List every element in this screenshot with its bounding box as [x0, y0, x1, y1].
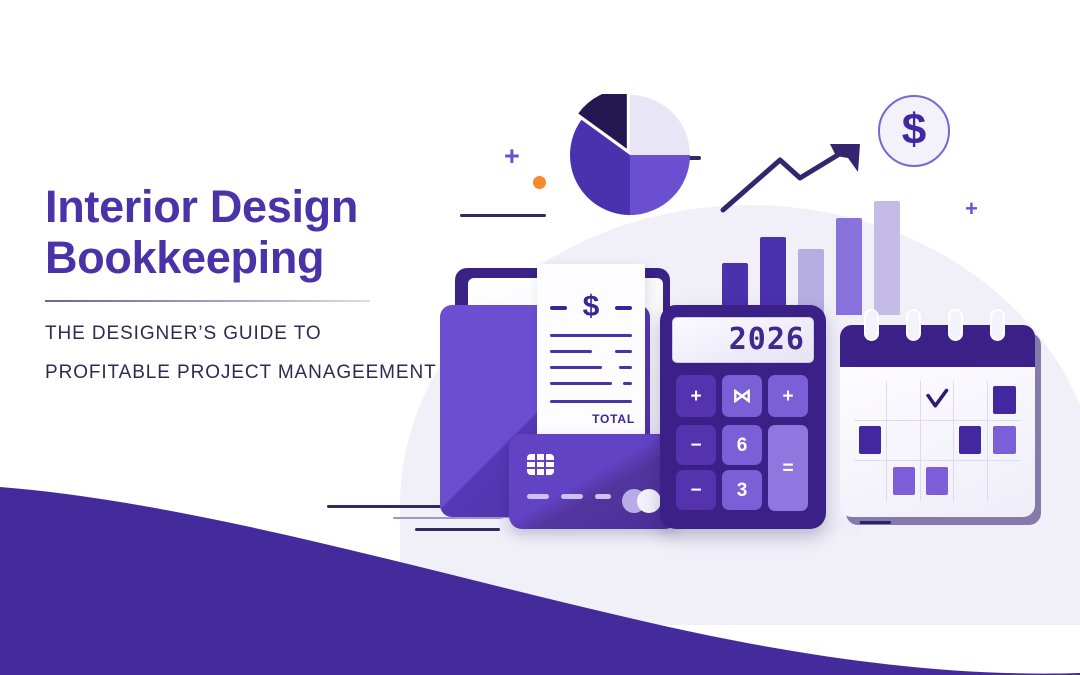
pie-slice [630, 95, 690, 155]
dash-mark-5 [415, 528, 500, 531]
receipt-dash-right [615, 306, 632, 310]
calculator: 2026 +⋈+−6−3= [660, 305, 826, 529]
calendar-cell[interactable] [854, 421, 887, 461]
calculator-display-value: 2026 [729, 325, 805, 355]
calendar-ring-1 [864, 309, 879, 341]
dash-mark-1 [460, 214, 546, 217]
key-multiply[interactable]: ⋈ [722, 375, 762, 417]
calendar [840, 325, 1035, 520]
calendar-ring-3 [948, 309, 963, 341]
receipt-zigzag-edge [537, 264, 645, 278]
receipt-body: $ TOTAL [537, 264, 645, 440]
card-number-dash-1 [527, 494, 549, 499]
receipt-line-3a [550, 366, 602, 369]
dollar-coin-icon: $ [878, 95, 950, 167]
illustration-canvas: Interior Design Bookkeeping THE DESIGNER… [0, 0, 1080, 675]
bar-chart-bar [760, 237, 786, 315]
calendar-ring-4 [990, 309, 1005, 341]
calendar-cell[interactable] [921, 421, 954, 461]
key-three[interactable]: 3 [722, 470, 762, 510]
pie-chart-svg [564, 94, 696, 216]
calendar-cell[interactable] [887, 461, 920, 501]
receipt-dash-left [550, 306, 567, 310]
calendar-day-marker [993, 386, 1016, 413]
receipt-line-1 [550, 334, 632, 337]
calculator-display: 2026 [672, 317, 814, 363]
calendar-cell[interactable] [988, 421, 1021, 461]
receipt-line-4b [623, 382, 632, 385]
calendar-day-marker [959, 426, 981, 453]
dollar-symbol: $ [902, 108, 926, 152]
key-six[interactable]: 6 [722, 425, 762, 465]
calendar-day-marker [993, 426, 1016, 453]
key-plus-2[interactable]: + [768, 375, 808, 417]
card-number-dash-3 [595, 494, 611, 499]
receipt-line-2a [550, 350, 592, 353]
calendar-cell[interactable] [854, 461, 887, 501]
receipt-line-4a [550, 382, 612, 385]
calendar-day-marker [926, 467, 948, 495]
receipt-line-3b [619, 366, 632, 369]
page-title-line-2: Bookkeeping [45, 233, 445, 284]
pie-chart [564, 94, 696, 216]
subtitle-line-1: THE DESIGNER’S GUIDE TO [45, 324, 445, 343]
card-number-dash-2 [561, 494, 583, 499]
card-logo-circle-right [637, 489, 661, 513]
receipt: $ TOTAL [537, 252, 645, 440]
calendar-cell[interactable] [954, 461, 987, 501]
calendar-cell[interactable] [988, 461, 1021, 501]
calendar-grid [854, 381, 1021, 501]
dash-mark-3 [327, 505, 453, 508]
subtitle-line-2: PROFITABLE PROJECT MANAGEEMENT [45, 363, 445, 382]
dash-mark-4 [393, 517, 510, 519]
orange-dot-icon [533, 176, 546, 189]
bar-chart-bar [836, 218, 862, 315]
hero-text: Interior Design Bookkeeping THE DESIGNER… [45, 182, 445, 382]
calendar-day-marker [893, 467, 915, 495]
key-equals[interactable]: = [768, 425, 808, 511]
receipt-total-label: TOTAL [537, 412, 645, 426]
calendar-cell[interactable] [887, 381, 920, 421]
calendar-day-marker [859, 426, 881, 453]
bar-chart-bar [874, 201, 900, 315]
key-plus-1[interactable]: + [676, 375, 716, 417]
pie-slice [630, 155, 690, 215]
calendar-ring-2 [906, 309, 921, 341]
calendar-cell[interactable] [887, 421, 920, 461]
bar-chart [722, 190, 937, 315]
page-title-line-1: Interior Design [45, 182, 445, 233]
plus-icon-left: + [504, 143, 520, 170]
receipt-line-5 [550, 400, 632, 403]
calendar-cell[interactable] [988, 381, 1021, 421]
key-minus-2[interactable]: − [676, 470, 716, 510]
card-chip-icon [527, 454, 554, 475]
calendar-cell[interactable] [954, 421, 987, 461]
title-divider [45, 300, 370, 302]
receipt-line-2b [615, 350, 632, 353]
calendar-cell[interactable] [954, 381, 987, 421]
credit-card [509, 434, 678, 529]
plus-icon-right: + [965, 198, 978, 220]
calendar-cell[interactable] [854, 381, 887, 421]
calendar-cell[interactable] [921, 381, 954, 421]
key-minus-1[interactable]: − [676, 425, 716, 465]
calendar-cell[interactable] [921, 461, 954, 501]
check-icon [925, 386, 950, 413]
